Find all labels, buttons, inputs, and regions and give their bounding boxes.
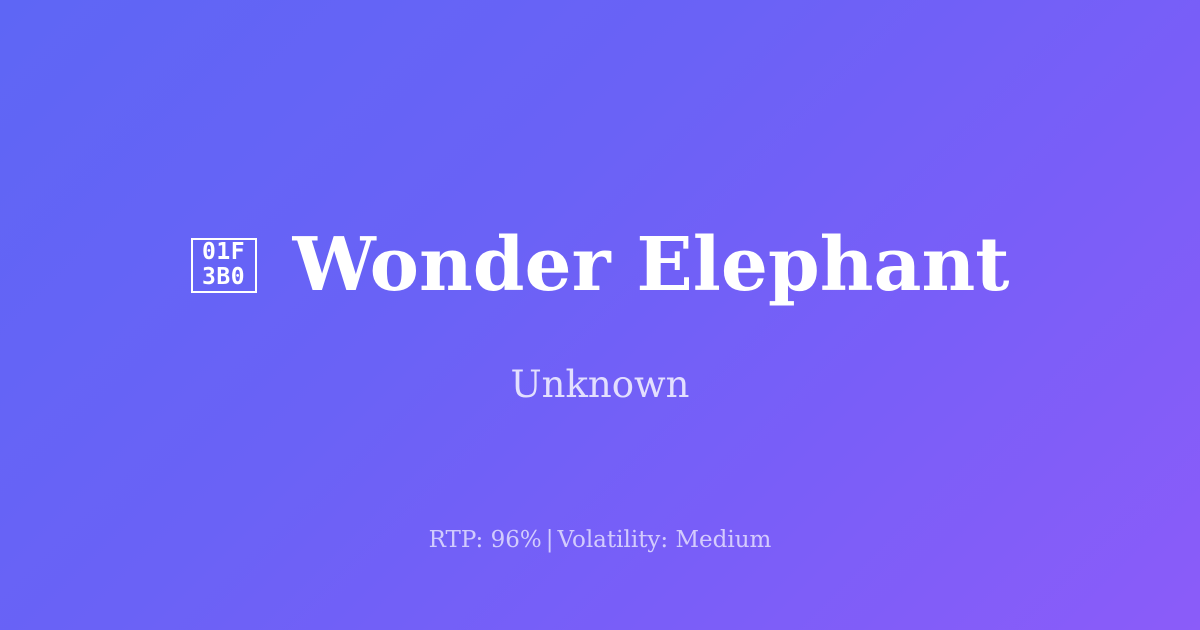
tofu-codepoint-bottom: 3B0 — [202, 265, 245, 290]
volatility-label: Volatility: Medium — [557, 527, 771, 553]
game-stats-line: RTP: 96%|Volatility: Medium — [0, 527, 1200, 555]
tofu-codepoint-top: 01F — [202, 240, 245, 265]
game-preview-card: 01F 3B0 Wonder Elephant Unknown RTP: 96%… — [0, 0, 1200, 630]
page-title: Wonder Elephant — [293, 228, 1010, 302]
game-provider-subtitle: Unknown — [0, 363, 1200, 407]
title-row: 01F 3B0 Wonder Elephant — [0, 228, 1200, 302]
slot-machine-icon: 01F 3B0 — [191, 238, 257, 293]
rtp-label: RTP: 96% — [429, 527, 542, 553]
meta-separator: | — [542, 527, 558, 553]
